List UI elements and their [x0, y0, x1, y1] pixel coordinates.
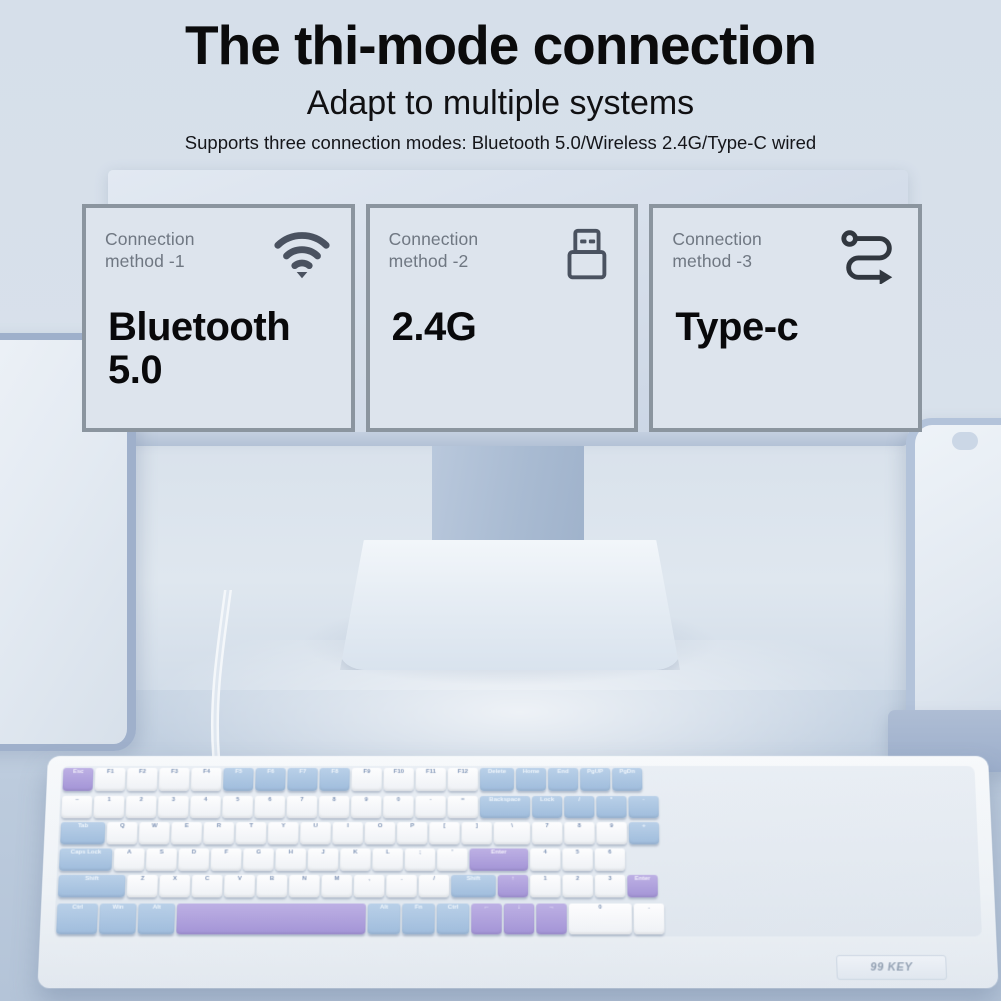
keycap-f7[interactable]: F7 — [287, 768, 318, 791]
connection-card-1[interactable]: Connectionmethod -1 Bluetooth5.0 — [82, 204, 355, 432]
keycap-x[interactable]: X — [159, 875, 190, 897]
card-1-header: Connectionmethod -1 — [105, 228, 335, 290]
card-1-title: Bluetooth5.0 — [108, 306, 337, 392]
page-title: The thi-mode connection — [0, 0, 1001, 73]
keycap--[interactable]: - — [415, 796, 445, 818]
cable-arrow-icon — [838, 226, 900, 284]
keycap-h[interactable]: H — [275, 848, 306, 870]
keycap-5[interactable]: 5 — [222, 796, 253, 818]
keyboard-badge: 99 KEY — [836, 955, 947, 980]
keycap-q[interactable]: Q — [106, 822, 137, 844]
card-1-label: Connectionmethod -1 — [105, 228, 275, 273]
keycap-caps-lock[interactable]: Caps Lock — [59, 848, 112, 870]
smartphone-device — [906, 418, 1001, 748]
header-block: The thi-mode connection Adapt to multipl… — [0, 0, 1001, 153]
keycap-lock[interactable]: Lock — [532, 796, 562, 818]
keycap-enter[interactable]: Enter — [627, 875, 658, 897]
keycap-esc[interactable]: Esc — [62, 768, 93, 791]
keycap--[interactable]: . — [634, 904, 665, 935]
product-marketing-image: EscF1F2F3F4F5F6F7F8F9F10F11F12DeleteHome… — [0, 0, 1001, 1001]
keycap--[interactable]: [ — [429, 822, 459, 844]
keycap-fn[interactable]: Fn — [402, 904, 435, 935]
keycap-i[interactable]: I — [332, 822, 363, 844]
keycap-f11[interactable]: F11 — [416, 768, 446, 791]
keycap-grid: EscF1F2F3F4F5F6F7F8F9F10F11F12DeleteHome… — [54, 764, 982, 939]
keycap-b[interactable]: B — [256, 875, 287, 897]
card-2-title: 2.4G — [392, 306, 621, 349]
keycap-2[interactable]: 2 — [563, 875, 594, 897]
keycap-p[interactable]: P — [397, 822, 427, 844]
keycap--[interactable]: ← — [471, 904, 502, 935]
keycap-home[interactable]: Home — [516, 768, 546, 791]
keycap-y[interactable]: Y — [268, 822, 299, 844]
keycap-f6[interactable]: F6 — [255, 768, 286, 791]
keycap-f2[interactable]: F2 — [127, 768, 158, 791]
keycap-alt[interactable]: Alt — [138, 904, 176, 935]
keycap-u[interactable]: U — [300, 822, 331, 844]
monitor-bezel-bottom — [108, 432, 908, 446]
connection-card-2[interactable]: Connectionmethod -2 2.4G — [366, 204, 639, 432]
keycap-f8[interactable]: F8 — [319, 768, 349, 791]
keycap-7[interactable]: 7 — [532, 822, 562, 844]
keycap-7[interactable]: 7 — [287, 796, 318, 818]
keycap-f10[interactable]: F10 — [384, 768, 414, 791]
keycap-f12[interactable]: F12 — [448, 768, 478, 791]
page-description: Supports three connection modes: Bluetoo… — [0, 120, 1001, 153]
keycap--[interactable]: , — [354, 875, 385, 897]
card-3-label: Connectionmethod -3 — [672, 228, 842, 273]
keycap-k[interactable]: K — [340, 848, 371, 870]
keycap-pgdn[interactable]: PgDn — [612, 768, 642, 791]
keycap-6[interactable]: 6 — [254, 796, 285, 818]
keycap--[interactable]: ' — [437, 848, 467, 870]
card-3-header: Connectionmethod -3 — [672, 228, 902, 290]
keycap-f1[interactable]: F1 — [95, 768, 126, 791]
keycap-enter[interactable]: Enter — [469, 848, 528, 870]
keycap-pgup[interactable]: PgUP — [580, 768, 610, 791]
page-subtitle: Adapt to multiple systems — [0, 73, 1001, 120]
keycap-f4[interactable]: F4 — [191, 768, 222, 791]
keycap--[interactable]: ↑ — [498, 875, 528, 897]
keycap-9[interactable]: 9 — [597, 822, 627, 844]
keycap-f3[interactable]: F3 — [159, 768, 190, 791]
keycap-n[interactable]: N — [289, 875, 320, 897]
keycap-f[interactable]: F — [211, 848, 242, 870]
keycap-space[interactable] — [176, 904, 366, 935]
keycap-m[interactable]: M — [321, 875, 352, 897]
keycap--[interactable]: ; — [405, 848, 436, 870]
connection-card-3[interactable]: Connectionmethod -3 Type-c — [649, 204, 922, 432]
keycap--[interactable]: ↓ — [504, 904, 535, 935]
keycap-3[interactable]: 3 — [595, 875, 626, 897]
keycap-j[interactable]: J — [308, 848, 339, 870]
keycap-4[interactable]: 4 — [190, 796, 221, 818]
keycap-f5[interactable]: F5 — [223, 768, 254, 791]
keyboard-chassis: EscF1F2F3F4F5F6F7F8F9F10F11F12DeleteHome… — [37, 756, 998, 988]
keycap-1[interactable]: 1 — [530, 875, 560, 897]
keycap--[interactable]: → — [536, 904, 567, 935]
connection-method-cards: Connectionmethod -1 Bluetooth5.0 Connect… — [82, 204, 922, 432]
keycap-2[interactable]: 2 — [126, 796, 157, 818]
keycap--[interactable]: - — [628, 796, 658, 818]
keycap-l[interactable]: L — [372, 848, 403, 870]
keycap-z[interactable]: Z — [127, 875, 158, 897]
keycap-9[interactable]: 9 — [351, 796, 381, 818]
keycap-win[interactable]: Win — [99, 904, 137, 935]
phone-camera-notch-icon — [952, 432, 978, 450]
keycap-w[interactable]: W — [139, 822, 170, 844]
keycap--[interactable]: ~ — [61, 796, 92, 818]
keycap-f9[interactable]: F9 — [351, 768, 381, 791]
card-2-header: Connectionmethod -2 — [389, 228, 619, 290]
keycap-alt[interactable]: Alt — [367, 904, 400, 935]
card-2-label: Connectionmethod -2 — [389, 228, 559, 273]
card-3-title: Type-c — [675, 306, 904, 349]
keycap-shift[interactable]: Shift — [451, 875, 496, 897]
keycap-3[interactable]: 3 — [158, 796, 189, 818]
keycap-delete[interactable]: Delete — [480, 768, 514, 791]
keycap-4[interactable]: 4 — [530, 848, 560, 870]
keycap-0[interactable]: 0 — [383, 796, 413, 818]
keycap-backspace[interactable]: Backspace — [480, 796, 530, 818]
keycap--[interactable]: / — [419, 875, 450, 897]
keycap-shift[interactable]: Shift — [58, 875, 126, 897]
keycap-r[interactable]: R — [203, 822, 234, 844]
keycap-c[interactable]: C — [192, 875, 223, 897]
keycap-8[interactable]: 8 — [564, 822, 594, 844]
keycap-d[interactable]: D — [178, 848, 209, 870]
keycap--[interactable]: . — [386, 875, 417, 897]
wifi-icon — [271, 226, 333, 284]
keycap-tab[interactable]: Tab — [60, 822, 105, 844]
keycap-g[interactable]: G — [243, 848, 274, 870]
keycap--[interactable]: / — [564, 796, 594, 818]
keycap-s[interactable]: S — [146, 848, 177, 870]
keycap-8[interactable]: 8 — [319, 796, 350, 818]
keycap-ctrl[interactable]: Ctrl — [56, 904, 98, 935]
keycap-v[interactable]: V — [224, 875, 255, 897]
keycap--[interactable]: = — [448, 796, 478, 818]
keycap-ctrl[interactable]: Ctrl — [437, 904, 470, 935]
keycap-end[interactable]: End — [548, 768, 578, 791]
keycap--[interactable]: \ — [494, 822, 530, 844]
keycap-6[interactable]: 6 — [595, 848, 626, 870]
keycap-a[interactable]: A — [114, 848, 145, 870]
keycap--[interactable]: * — [596, 796, 626, 818]
keycap--[interactable]: + — [629, 822, 659, 844]
keycap-e[interactable]: E — [171, 822, 202, 844]
keycap-5[interactable]: 5 — [562, 848, 592, 870]
keycap-1[interactable]: 1 — [93, 796, 124, 818]
keycap-o[interactable]: O — [365, 822, 396, 844]
mechanical-keyboard: EscF1F2F3F4F5F6F7F8F9F10F11F12DeleteHome… — [48, 756, 988, 1001]
keycap-t[interactable]: T — [236, 822, 267, 844]
usb-dongle-icon — [554, 226, 616, 284]
keycap--[interactable]: ] — [462, 822, 492, 844]
keycap-0[interactable]: 0 — [569, 904, 632, 935]
